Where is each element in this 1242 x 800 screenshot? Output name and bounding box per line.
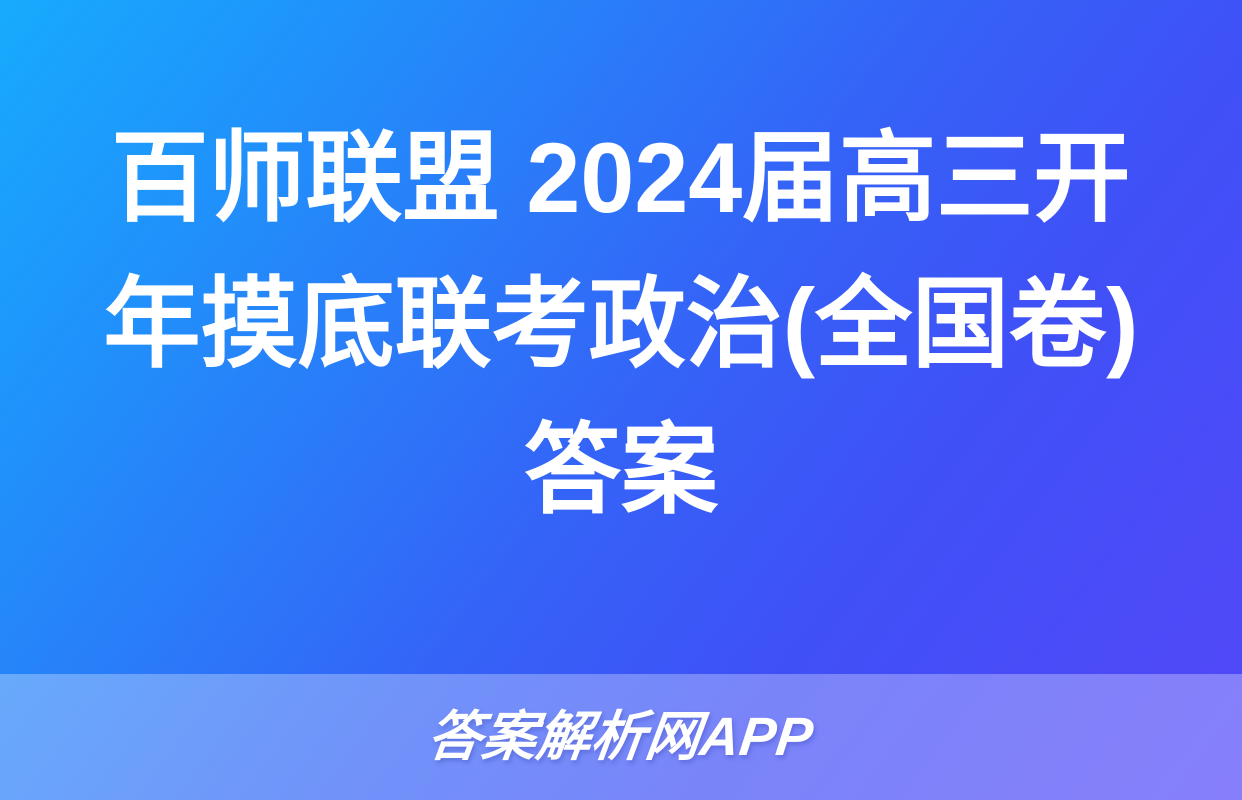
title-block: 百师联盟 2024届高三开 年摸底联考政治(全国卷) 答案 — [0, 0, 1242, 674]
share-card: 百师联盟 2024届高三开 年摸底联考政治(全国卷) 答案 答案解析网APP — [0, 0, 1242, 800]
title-line-2: 年摸底联考政治(全国卷) — [104, 251, 1139, 397]
title-line-3: 答案 — [524, 397, 718, 543]
footer-band: 答案解析网APP — [0, 674, 1242, 800]
title-line-1: 百师联盟 2024届高三开 — [112, 105, 1131, 251]
watermark-brand-label: 答案解析网APP — [425, 707, 817, 767]
